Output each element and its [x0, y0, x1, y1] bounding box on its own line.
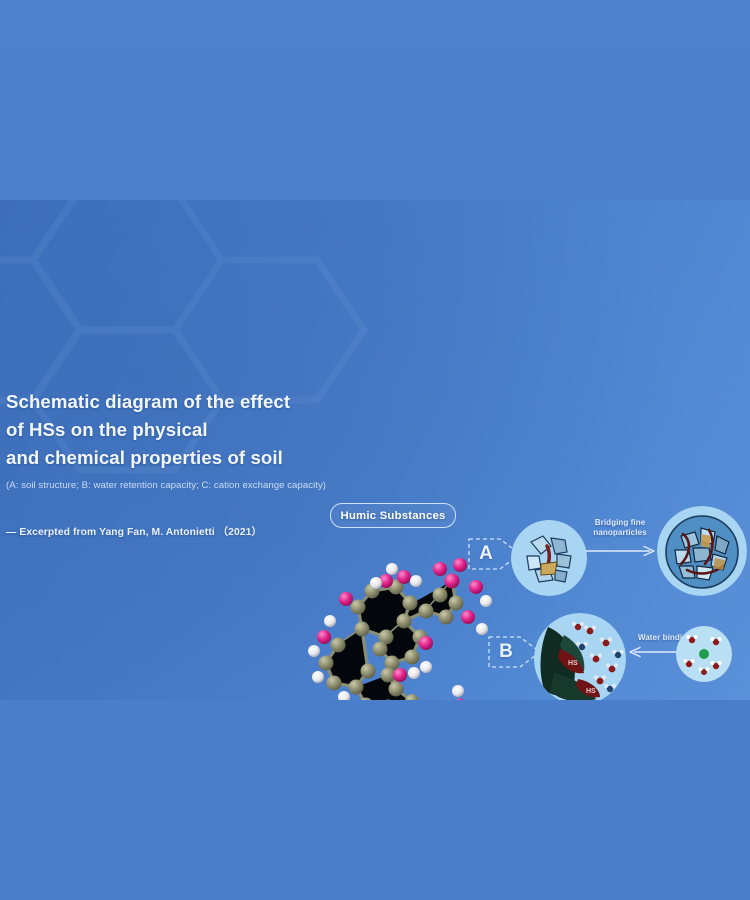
pathway-a-before-circle	[511, 520, 587, 596]
title-line-1: Schematic diagram of the effect	[6, 388, 341, 416]
figure-credit: — Excerpted from Yang Fan, M. Antonietti…	[6, 523, 341, 538]
pathway-b-flow-arrow-icon	[628, 646, 678, 658]
hs-tag-2: HS	[586, 688, 596, 695]
figure-subtitle: (A: soil structure; B: water retention c…	[6, 479, 341, 492]
figure-canvas: Schematic diagram of the effect of HSs o…	[0, 0, 750, 900]
pathway-a-flow-label: Bridging fine nanoparticles	[578, 518, 662, 538]
figure-caption-block: Schematic diagram of the effect of HSs o…	[6, 388, 341, 538]
pathway-a-flow-arrow-icon	[586, 545, 658, 557]
title-line-3: and chemical properties of soil	[6, 444, 341, 472]
pathway-b-letter: B	[487, 632, 525, 672]
hs-tag-1: HS	[568, 660, 578, 667]
pathway-b-result-circle: HS HS	[534, 613, 626, 700]
page-title: Schematic diagram of the effect of HSs o…	[6, 388, 341, 472]
title-line-2: of HSs on the physical	[6, 416, 341, 444]
pathway-a-after-circle	[657, 506, 747, 596]
illustration-panel: Schematic diagram of the effect of HSs o…	[0, 200, 750, 700]
pathway-a-letter: A	[467, 534, 505, 574]
pathway-a-flow-label-line1: Bridging fine	[595, 518, 646, 527]
humic-substance-molecule-model	[300, 525, 490, 700]
pathway-b-water-circle	[676, 626, 732, 682]
pathway-a-flow-label-line2: nanoparticles	[593, 528, 646, 537]
